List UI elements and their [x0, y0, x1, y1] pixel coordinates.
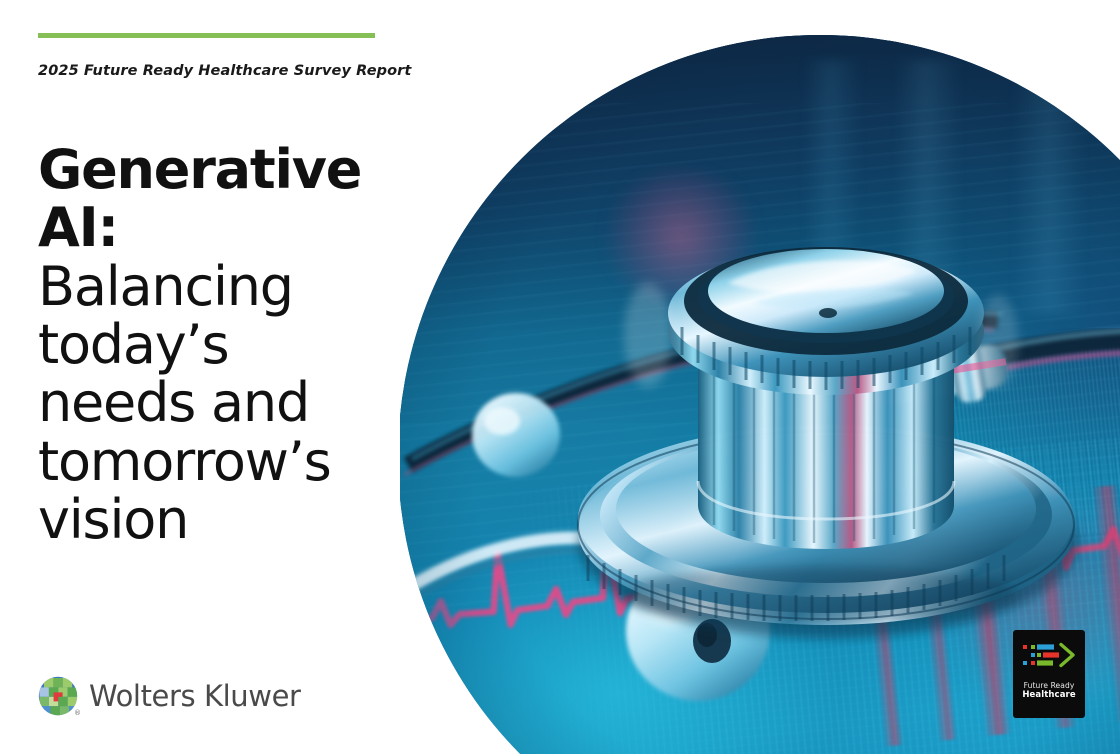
wolters-kluwer-logo[interactable]: ® Wolters Kluwer [38, 676, 301, 716]
hero-circle-image [400, 35, 1120, 754]
wolters-kluwer-wordmark: Wolters Kluwer [89, 682, 301, 711]
page-title-light: Balancing today’s needs and tomorrow’s v… [38, 255, 331, 551]
badge-line-1: Future Ready [1022, 681, 1075, 690]
report-eyebrow: 2025 Future Ready Healthcare Survey Repo… [38, 63, 388, 79]
green-accent-rule [38, 33, 375, 38]
page-title-bold: Generative AI: [38, 138, 361, 259]
page-title: Generative AI: Balancing today’s needs a… [38, 141, 383, 549]
future-ready-badge-text: Future Ready Healthcare [1022, 681, 1075, 701]
cover-text-column: 2025 Future Ready Healthcare Survey Repo… [0, 0, 400, 754]
report-cover-page: 2025 Future Ready Healthcare Survey Repo… [0, 0, 1120, 754]
badge-line-2: Healthcare [1022, 690, 1075, 700]
future-ready-healthcare-badge[interactable]: Future Ready Healthcare [1013, 630, 1085, 718]
future-ready-arrow-icon [1021, 641, 1077, 671]
stethoscope-illustration [400, 35, 1120, 754]
wolters-kluwer-logo-icon: ® [38, 676, 78, 716]
hero-image-container [400, 0, 1120, 754]
registered-trademark-icon: ® [74, 709, 81, 717]
